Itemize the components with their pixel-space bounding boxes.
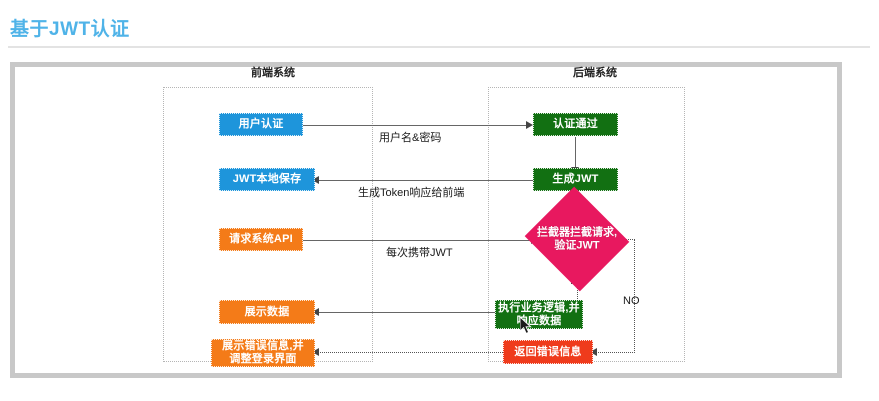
lane-title-frontend: 前端系统 [213, 64, 333, 80]
node-verify-jwt[interactable]: 拦截器拦截请求, 验证JWT [538, 204, 616, 274]
diagram-frame: 前端系统 后端系统 [10, 62, 842, 378]
node-jwt-store[interactable]: JWT本地保存 [219, 168, 315, 191]
node-auth-pass[interactable]: 认证通过 [533, 113, 618, 136]
page-title: 基于JWT认证 [10, 14, 130, 41]
node-request-api[interactable]: 请求系统API [219, 228, 303, 251]
lane-title-backend: 后端系统 [535, 64, 655, 80]
node-return-error[interactable]: 返回错误信息 [503, 340, 593, 364]
arrowhead-auth-pass [526, 121, 533, 129]
title-divider [8, 46, 870, 48]
edge-user-auth-to-auth-pass [303, 125, 531, 126]
node-show-data[interactable]: 展示数据 [219, 300, 315, 324]
edge-label-token-response: 生成Token响应给前端 [358, 184, 464, 200]
edge-no-horizontal-bottom [593, 352, 635, 353]
edge-generate-jwt-to-jwt-store [315, 180, 533, 181]
node-business-logic[interactable]: 执行业务逻辑,并 响应数据 [495, 300, 583, 329]
mouse-cursor [520, 317, 532, 335]
edge-label-carry-jwt: 每次携带JWT [386, 244, 453, 260]
edge-label-credentials: 用户名&密码 [379, 129, 441, 145]
node-verify-jwt-label: 拦截器拦截请求, 验证JWT [531, 226, 623, 251]
edge-request-api-to-verify [303, 240, 535, 241]
edge-return-error-to-show-error [315, 352, 503, 353]
node-show-error[interactable]: 展示错误信息,并 调整登录界面 [211, 339, 315, 367]
node-user-auth[interactable]: 用户认证 [219, 113, 303, 136]
diagram-canvas: 前端系统 后端系统 [15, 67, 837, 373]
screenshot-root: 基于JWT认证 前端系统 后端系统 [0, 0, 879, 401]
edge-business-logic-to-show-data [315, 312, 495, 313]
branch-label-no: NO [623, 295, 640, 307]
